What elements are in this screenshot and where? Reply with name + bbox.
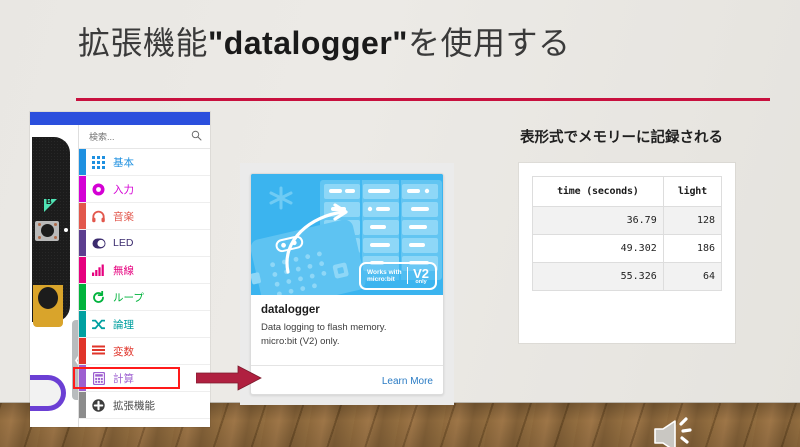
category-label: 拡張機能	[113, 398, 155, 413]
category-color-bar	[79, 230, 86, 256]
category-label: 入力	[113, 182, 134, 197]
cell-time: 36.79	[533, 207, 664, 235]
column-header-light: light	[663, 177, 721, 207]
extension-card[interactable]: Works with micro:bit V2 only datalogger …	[250, 173, 444, 395]
toolbox-category-advanced[interactable]: 高度なブロック	[79, 419, 210, 427]
learn-more-link[interactable]: Learn More	[382, 376, 433, 387]
table-header-row: time (seconds) light	[533, 177, 722, 207]
category-label: 論理	[113, 317, 134, 332]
toolbox-category-math[interactable]: 計算	[79, 365, 210, 392]
category-color-bar	[79, 311, 86, 337]
board-rivet	[54, 223, 57, 226]
button-b-label: B	[46, 197, 52, 206]
chevron-down-icon	[91, 425, 106, 428]
led-toggle-icon	[91, 236, 106, 251]
category-label: LED	[113, 237, 133, 249]
category-color-bar	[79, 419, 86, 427]
power-led-icon	[64, 228, 68, 232]
badge-separator	[407, 267, 409, 284]
circle-dot-icon	[91, 182, 106, 197]
extension-card-footer: Learn More	[251, 365, 443, 394]
table-section-heading: 表形式でメモリーに記録される	[520, 126, 723, 147]
table-row: 55.326 64	[533, 263, 722, 291]
grid-icon	[91, 155, 106, 170]
category-label: 高度なブロック	[113, 425, 187, 428]
makecode-topbar	[30, 112, 210, 125]
category-color-bar	[79, 365, 86, 391]
plus-circle-icon	[91, 398, 106, 413]
category-label: 計算	[113, 371, 134, 386]
toolbox-category-basic[interactable]: 基本	[79, 149, 210, 176]
gnd-pin[interactable]: GND	[33, 285, 63, 327]
headphones-icon	[91, 209, 106, 224]
extension-description: Data logging to flash memory. micro:bit …	[261, 321, 433, 349]
works-with-microbit-badge: Works with micro:bit V2 only	[359, 262, 437, 291]
toolbox-category-logic[interactable]: 論理	[79, 311, 210, 338]
category-color-bar	[79, 284, 86, 310]
signal-bars-icon	[91, 263, 106, 278]
cell-light: 128	[663, 207, 721, 235]
cell-time: 55.326	[533, 263, 664, 291]
cell-time: 49.302	[533, 235, 664, 263]
board-rivet	[54, 236, 57, 239]
makecode-editor-screenshot: B GND ❮	[30, 112, 210, 427]
usb-connector	[30, 375, 66, 411]
microbit-board: B GND	[32, 137, 70, 322]
speaker-icon	[653, 415, 703, 447]
category-color-bar	[79, 392, 86, 418]
category-label: 変数	[113, 344, 134, 359]
title-suffix: を使用する	[408, 25, 571, 61]
toolbox-category-loops[interactable]: ループ	[79, 284, 210, 311]
toolbox-category-led[interactable]: LED	[79, 230, 210, 257]
cell-light: 64	[663, 263, 721, 291]
extension-title: datalogger	[261, 304, 433, 316]
search-icon[interactable]	[191, 128, 202, 146]
title-quoted-term: "datalogger"	[208, 25, 408, 61]
loop-arrow-icon	[91, 290, 106, 305]
toolbox-category-extensions[interactable]: 拡張機能	[79, 392, 210, 419]
page-title: 拡張機能"datalogger"を使用する	[78, 18, 570, 64]
badge-version-sub: only	[413, 280, 429, 286]
cell-light: 186	[663, 235, 721, 263]
category-color-bar	[79, 149, 86, 175]
table-row: 49.302 186	[533, 235, 722, 263]
blocks-toolbox: 基本 入力 音楽	[78, 125, 210, 427]
board-rivet	[38, 223, 41, 226]
board-rivet	[38, 236, 41, 239]
category-color-bar	[79, 257, 86, 283]
badge-works-line2: micro:bit	[367, 276, 402, 283]
badge-works-line1: Works with	[367, 269, 402, 276]
category-color-bar	[79, 203, 86, 229]
calculator-icon	[91, 371, 106, 386]
extension-description-line2: micro:bit (V2) only.	[261, 335, 433, 349]
category-label: 基本	[113, 155, 134, 170]
toolbox-category-radio[interactable]: 無線	[79, 257, 210, 284]
title-prefix: 拡張機能	[78, 25, 208, 61]
pointer-arrow-icon	[196, 365, 262, 391]
toolbox-search-row[interactable]	[79, 125, 210, 149]
lines-icon	[91, 344, 106, 359]
table-row: 36.79 128	[533, 207, 722, 235]
column-header-time: time (seconds)	[533, 177, 664, 207]
toolbox-category-variables[interactable]: 変数	[79, 338, 210, 365]
extension-card-body: datalogger Data logging to flash memory.…	[251, 295, 443, 365]
search-input[interactable]	[89, 132, 181, 142]
toolbox-category-music[interactable]: 音楽	[79, 203, 210, 230]
shuffle-icon	[91, 317, 106, 332]
toolbox-category-input[interactable]: 入力	[79, 176, 210, 203]
extension-description-line1: Data logging to flash memory.	[261, 321, 433, 335]
category-label: 無線	[113, 263, 134, 278]
category-label: ループ	[113, 290, 144, 305]
title-divider	[76, 98, 770, 101]
simulator-pane: B GND ❮	[30, 125, 78, 427]
data-table-screenshot: time (seconds) light 36.79 128 49.302 18…	[519, 163, 735, 343]
category-color-bar	[79, 338, 86, 364]
extension-card-image: Works with micro:bit V2 only	[251, 174, 443, 295]
badge-version: V2	[413, 267, 429, 280]
extension-card-screenshot: Works with micro:bit V2 only datalogger …	[240, 163, 454, 405]
category-color-bar	[79, 176, 86, 202]
category-label: 音楽	[113, 209, 134, 224]
logged-data-table: time (seconds) light 36.79 128 49.302 18…	[532, 176, 722, 291]
